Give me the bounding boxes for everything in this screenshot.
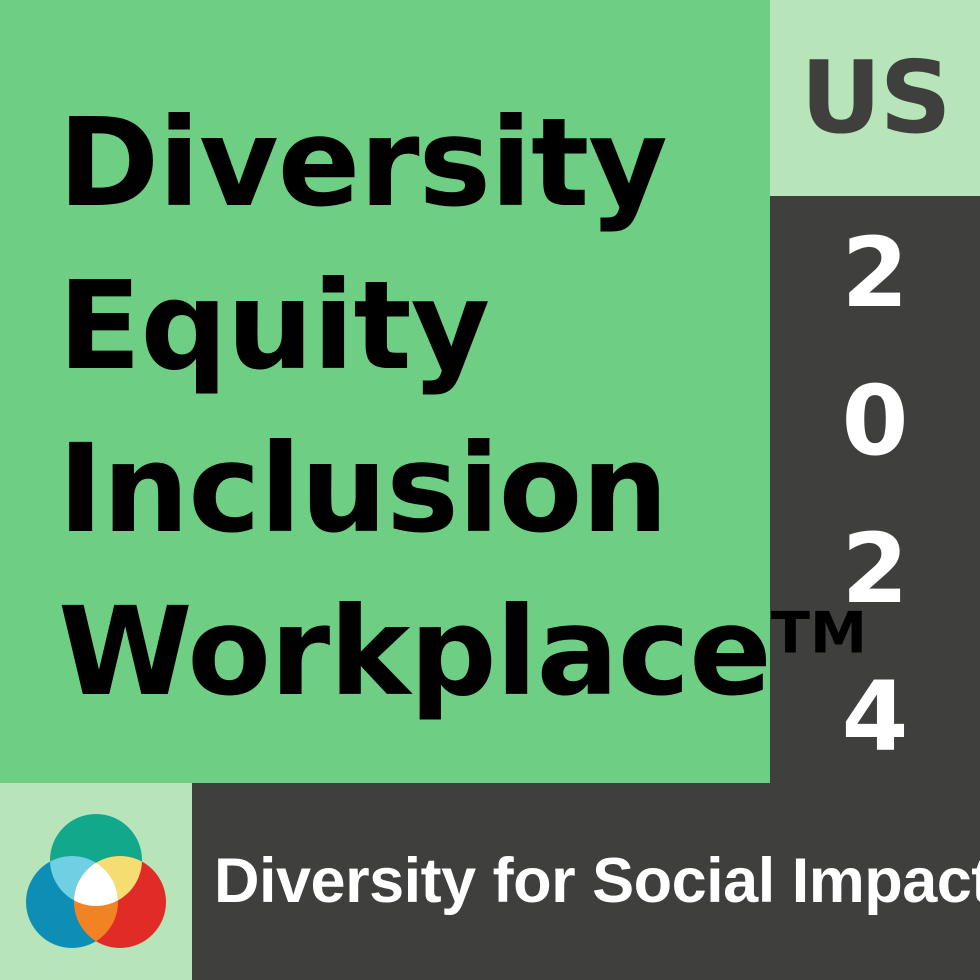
year-digit-2: 0 xyxy=(842,347,909,495)
venn-diagram-logo xyxy=(25,811,167,953)
brand-name-container: Diversity for Social Impact xyxy=(192,783,980,980)
headline-line-inclusion: Inclusion xyxy=(58,408,758,571)
year-digit-4: 4 xyxy=(842,643,909,791)
headline-workplace-word: Workplace xyxy=(58,581,771,723)
brand-name: Diversity for Social Impact xyxy=(214,848,980,914)
brand-logo-container xyxy=(0,783,192,980)
headline-block: Diversity Equity Inclusion WorkplaceTM xyxy=(58,82,758,734)
country-badge: US xyxy=(770,0,980,196)
year-digit-3: 2 xyxy=(842,495,909,643)
headline-line-equity: Equity xyxy=(58,245,758,408)
headline-line-workplace: WorkplaceTM xyxy=(58,571,758,734)
poster-canvas: Diversity Equity Inclusion WorkplaceTM U… xyxy=(0,0,980,980)
country-badge-label: US xyxy=(800,48,949,148)
headline-line-diversity: Diversity xyxy=(58,82,758,245)
year-column: 2 0 2 4 xyxy=(770,196,980,783)
year-digit-1: 2 xyxy=(842,199,909,347)
